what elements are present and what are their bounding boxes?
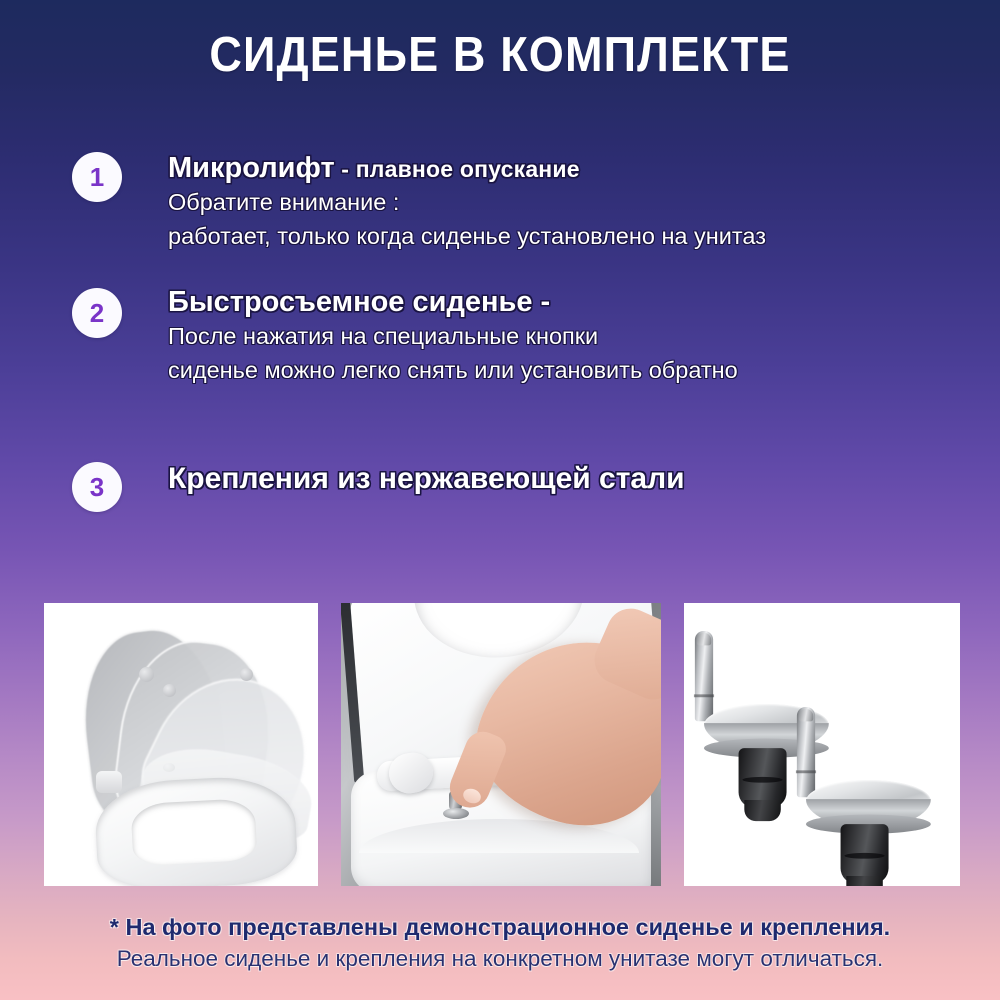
feature-text-2: Быстросъемное сиденье - После нажатия на… bbox=[168, 286, 1000, 387]
feature-heading-main: Микролифт bbox=[168, 152, 335, 184]
seat-bumper-icon bbox=[139, 667, 154, 682]
photo-strip bbox=[44, 603, 960, 886]
bolt-rubber-plug bbox=[841, 824, 889, 884]
feature-line-2-1: После нажатия на специальные кнопки bbox=[168, 320, 986, 353]
feature-item-2: 2 Быстросъемное сиденье - После нажатия … bbox=[0, 286, 1000, 446]
seat-bumper-icon bbox=[163, 684, 176, 697]
feature-heading-tail: - плавное опускание bbox=[335, 156, 580, 182]
feature-heading-1: Микролифт - плавное опускание bbox=[168, 152, 986, 184]
feature-badge-number: 2 bbox=[90, 300, 104, 326]
feature-badge-2: 2 bbox=[72, 288, 122, 338]
footnote: * На фото представлены демонстрационное … bbox=[0, 912, 1000, 975]
bolt-stem bbox=[695, 631, 713, 721]
seat-bumper-icon bbox=[240, 668, 253, 681]
feature-line-2-2: сиденье можно легко снять или установить… bbox=[168, 354, 986, 387]
feature-heading-3: Крепления из нержавеющей стали bbox=[168, 462, 986, 496]
bolt-stem bbox=[797, 707, 815, 797]
feature-list: 1 Микролифт - плавное опускание Обратите… bbox=[0, 152, 1000, 538]
feature-line-1-1: Обратите внимание : bbox=[168, 186, 986, 219]
feature-badge-3: 3 bbox=[72, 462, 122, 512]
page-title: СИДЕНЬЕ В КОМПЛЕКТЕ bbox=[40, 27, 960, 83]
feature-line-1-2: работает, только когда сиденье установле… bbox=[168, 220, 986, 253]
feature-text-1: Микролифт - плавное опускание Обратите в… bbox=[168, 152, 1000, 253]
bolt-rubber-plug bbox=[739, 748, 787, 808]
feature-badge-1: 1 bbox=[72, 152, 122, 202]
seat-hinge bbox=[96, 771, 122, 793]
feature-badge-number: 3 bbox=[90, 474, 104, 500]
photo-toilet-seat-softclose bbox=[44, 603, 318, 886]
footnote-line-1: * На фото представлены демонстрационное … bbox=[0, 912, 1000, 943]
poster-root: СИДЕНЬЕ В КОМПЛЕКТЕ 1 Микролифт - плавно… bbox=[0, 0, 1000, 1000]
photo-stainless-steel-bolts bbox=[684, 603, 960, 886]
photo-hand-removing-seat bbox=[341, 603, 661, 886]
feature-heading-2: Быстросъемное сиденье - bbox=[168, 286, 986, 318]
bolt-rubber-plug-tip bbox=[744, 800, 780, 821]
seat-opening bbox=[130, 798, 257, 866]
pin-disc bbox=[443, 808, 469, 819]
footnote-line-2: Реальное сиденье и крепления на конкретн… bbox=[0, 943, 1000, 976]
feature-item-3: 3 Крепления из нержавеющей стали bbox=[0, 462, 1000, 522]
bolt-rubber-plug-tip bbox=[846, 876, 882, 886]
feature-item-1: 1 Микролифт - плавное опускание Обратите… bbox=[0, 152, 1000, 270]
feature-badge-number: 1 bbox=[90, 164, 104, 190]
feature-text-3: Крепления из нержавеющей стали bbox=[168, 462, 1000, 496]
